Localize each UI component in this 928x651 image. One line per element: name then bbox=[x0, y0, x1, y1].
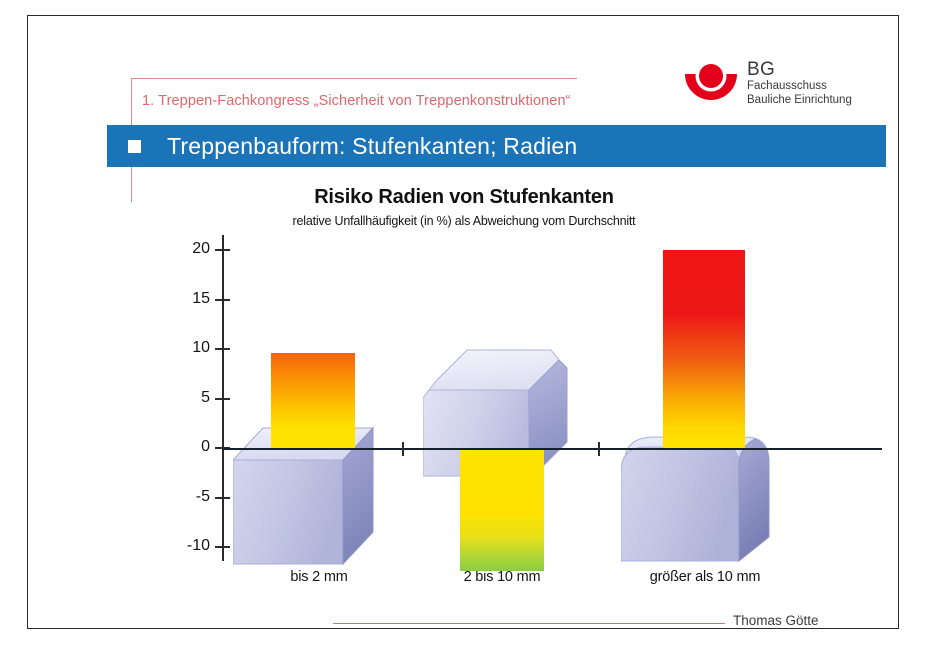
category-separator-tick-1 bbox=[598, 442, 600, 456]
y-tick-m5 bbox=[215, 497, 230, 499]
y-tick-20 bbox=[215, 249, 230, 251]
slide-frame: 1. Treppen-Fachkongress „Sicherheit von … bbox=[27, 15, 899, 629]
footer-author: Thomas Götte bbox=[733, 613, 819, 628]
value-bar-0 bbox=[271, 353, 355, 448]
category-label-0: bis 2 mm bbox=[224, 569, 414, 585]
category-separator-tick-0 bbox=[402, 442, 404, 456]
value-bar-1 bbox=[460, 449, 544, 571]
category-label-1: 2 bis 10 mm bbox=[407, 569, 597, 585]
risk-radius-chart: Risiko Radien von Stufenkanten relative … bbox=[28, 16, 900, 630]
footer-rule bbox=[333, 623, 725, 624]
y-tick-label-m10: -10 bbox=[168, 537, 210, 555]
y-tick-10 bbox=[215, 348, 230, 350]
y-tick-label-5: 5 bbox=[168, 389, 210, 407]
y-tick-m10 bbox=[215, 546, 230, 548]
y-tick-label-10: 10 bbox=[168, 339, 210, 357]
zero-baseline bbox=[222, 448, 882, 450]
category-label-2: größer als 10 mm bbox=[600, 569, 810, 585]
chart-plot-area: 20 15 10 5 0 -5 -10 bbox=[28, 16, 900, 630]
y-tick-label-m5: -5 bbox=[168, 488, 210, 506]
y-tick-label-15: 15 bbox=[168, 290, 210, 308]
y-tick-5 bbox=[215, 398, 230, 400]
y-tick-label-0: 0 bbox=[168, 438, 210, 456]
y-tick-label-20: 20 bbox=[168, 240, 210, 258]
y-tick-15 bbox=[215, 299, 230, 301]
value-bar-2 bbox=[663, 250, 745, 448]
